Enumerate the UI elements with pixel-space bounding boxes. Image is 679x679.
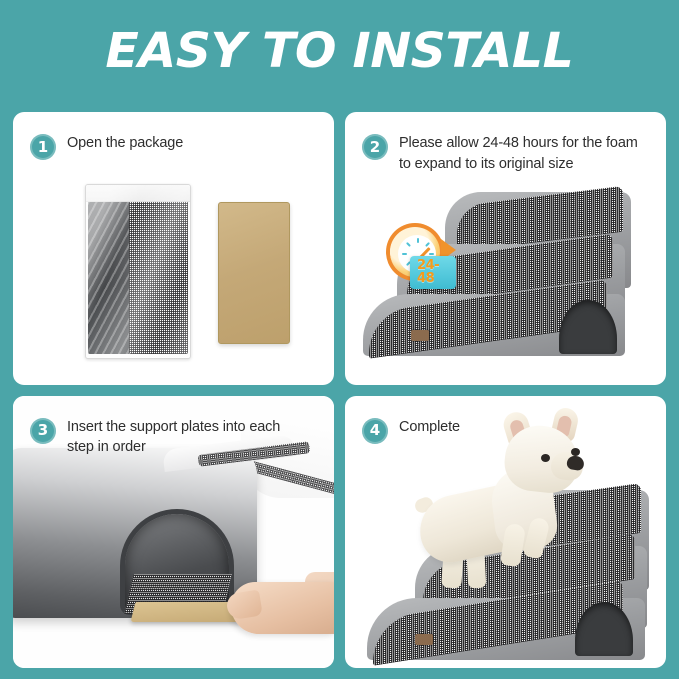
step-number-badge-3: 3 — [30, 418, 56, 444]
step-1-header: 1 Open the package — [30, 133, 320, 160]
step-4-header: 4 Complete — [362, 417, 652, 444]
sealed-package — [85, 184, 191, 359]
brand-tag — [415, 634, 433, 645]
step-panel-1: 1 Open the package — [13, 112, 334, 385]
page-title: EASY TO INSTALL — [106, 27, 574, 75]
step-4-text: Complete — [399, 417, 460, 438]
step-number-badge-4: 4 — [362, 418, 388, 444]
step-number-badge-2: 2 — [362, 134, 388, 160]
infographic-poster: EASY TO INSTALL 1 Open the package — [0, 0, 679, 679]
step-3-text: Insert the support plates into each step… — [67, 417, 310, 458]
clock-tick — [406, 242, 411, 247]
steps-grid: 1 Open the package — [13, 112, 666, 668]
dog-eye — [571, 448, 580, 456]
dog-nose — [566, 454, 585, 471]
step-panel-3: 3 Insert the support plates into each st… — [13, 396, 334, 669]
clock-tick — [429, 253, 434, 255]
brand-tag — [411, 330, 429, 341]
step-panel-4: 4 Complete — [345, 396, 666, 669]
step-2-text: Please allow 24-48 hours for the foam to… — [399, 133, 642, 174]
step-panel-2: 24-48 2 Please allow 24-48 hours for the… — [345, 112, 666, 385]
poster-header: EASY TO INSTALL — [0, 0, 679, 101]
package-houndstooth-fabric — [129, 201, 188, 354]
dog-eye — [541, 454, 550, 462]
step-1-text: Open the package — [67, 133, 183, 154]
step-3-header: 3 Insert the support plates into each st… — [30, 417, 320, 458]
cardboard-support-plate — [218, 202, 290, 344]
step-number-badge-1: 1 — [30, 134, 56, 160]
clock-tick — [402, 253, 407, 255]
hours-chip: 24-48 — [410, 256, 456, 289]
expansion-time-icon: 24-48 — [388, 225, 456, 289]
clock-tick — [417, 238, 419, 243]
package-foam-dark — [88, 201, 130, 354]
step-2-header: 2 Please allow 24-48 hours for the foam … — [362, 133, 652, 174]
bottom-accent-strip — [0, 668, 679, 679]
package-seal — [86, 185, 190, 202]
